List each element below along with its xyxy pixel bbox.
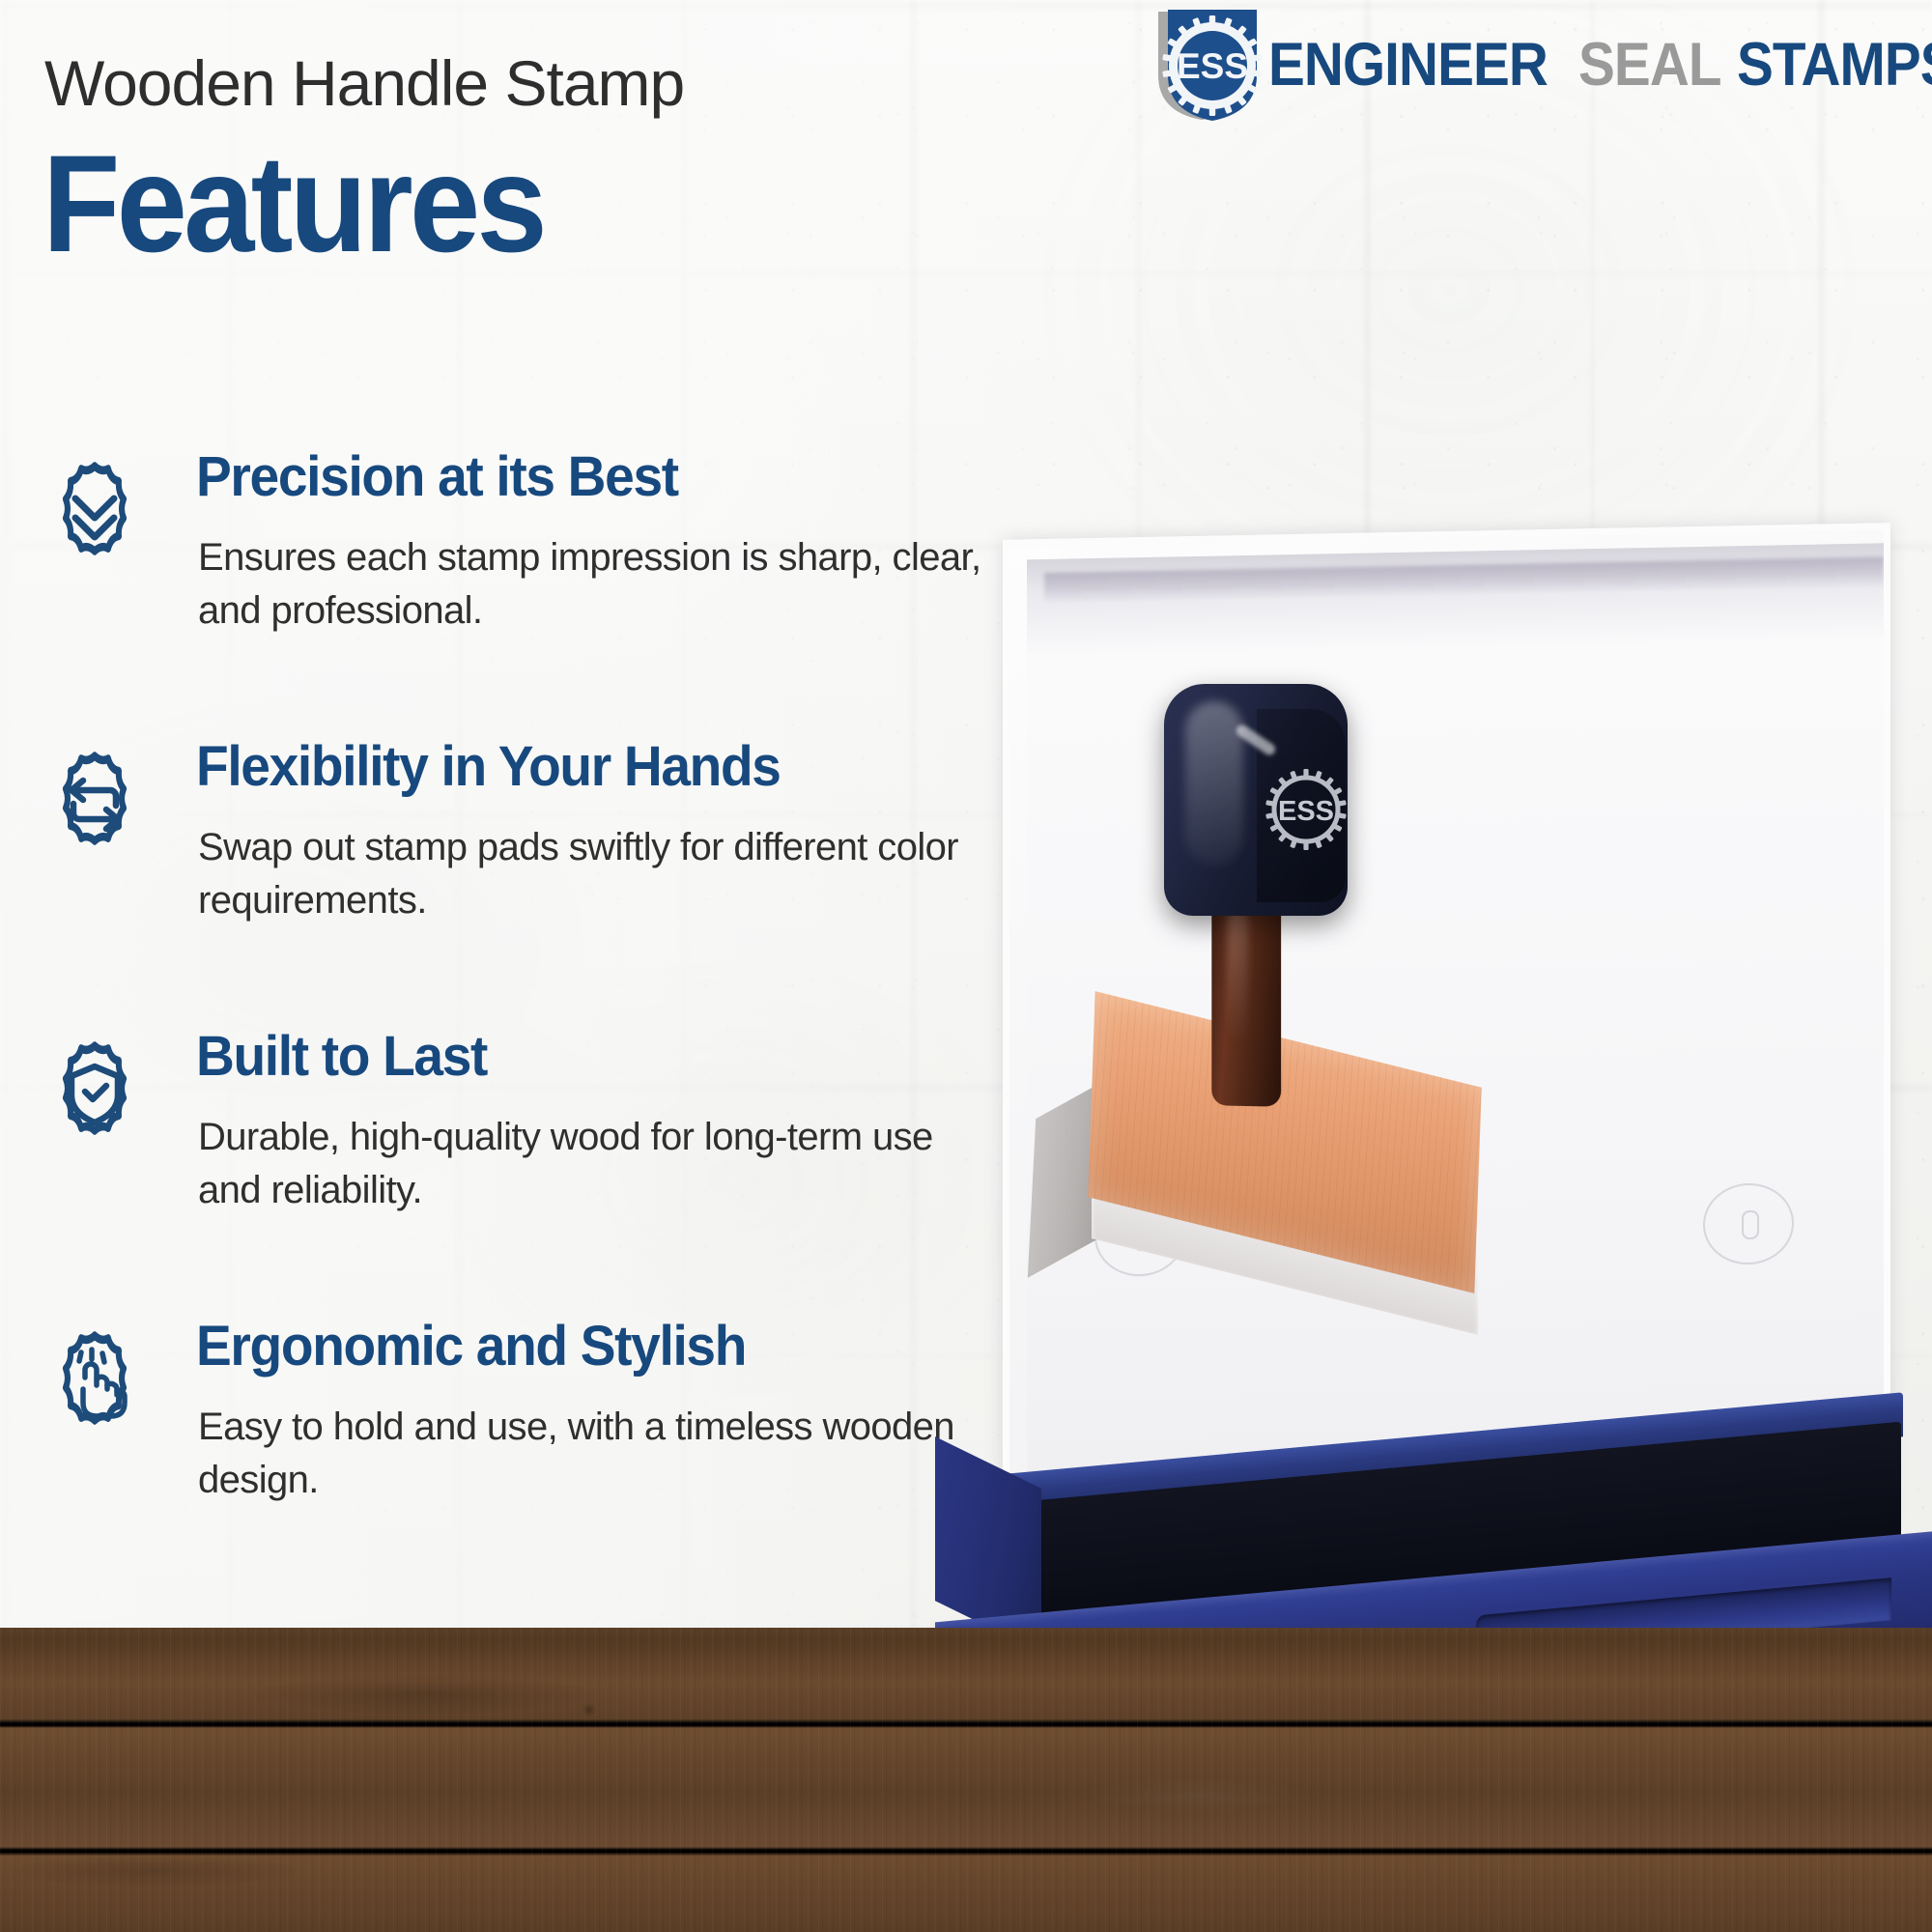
feature-body: Ensures each stamp impression is sharp, … <box>198 531 1000 638</box>
feature-body: Swap out stamp pads swiftly for differen… <box>198 821 1000 927</box>
feature-heading: Flexibility in Your Hands <box>196 738 781 797</box>
swap-arrows-badge-icon <box>39 742 151 862</box>
hand-tap-badge-icon <box>39 1321 151 1441</box>
wood-grain-patches <box>0 1628 1932 1932</box>
logo-mark-text: ESS <box>1177 46 1248 86</box>
logo-wordmark: ENGINEER SEAL STAMPS .COM <box>1268 29 1932 100</box>
feature-item-precision: Precision at its Best Ensures each stamp… <box>39 452 1014 742</box>
wooden-table-surface <box>0 1628 1932 1932</box>
feature-item-durability: Built to Last Durable, high-quality wood… <box>39 1032 1014 1321</box>
stamp-neck <box>1211 883 1281 1106</box>
logo-word-stamps: STAMPS <box>1737 35 1932 96</box>
wooden-handle-stamp: ESS <box>976 502 1932 1710</box>
knob-logo-text: ESS <box>1278 796 1334 827</box>
feature-list: Precision at its Best Ensures each stamp… <box>39 452 1014 1321</box>
page-subtitle: Wooden Handle Stamp <box>44 46 684 120</box>
shield-check-badge-icon <box>39 1032 151 1151</box>
page-title: Features <box>43 135 544 273</box>
feature-infographic: Wooden Handle Stamp Features <box>0 0 1932 1932</box>
ess-gear-icon: ESS <box>1264 765 1348 854</box>
brand-logo[interactable]: ESS ENGINEER SEAL STAMPS .COM <box>1145 8 1918 124</box>
feature-item-flexibility: Flexibility in Your Hands Swap out stamp… <box>39 742 1014 1032</box>
product-photo: ESS <box>976 502 1932 1710</box>
feature-heading: Precision at its Best <box>196 448 678 507</box>
logo-word-seal: SEAL <box>1578 35 1721 96</box>
ess-gear-shield-icon: ESS <box>1145 8 1266 124</box>
feature-heading: Ergonomic and Stylish <box>196 1318 746 1377</box>
logo-word-engineer: ENGINEER <box>1268 35 1548 96</box>
double-chevron-down-badge-icon <box>39 452 151 572</box>
feature-heading: Built to Last <box>196 1028 487 1087</box>
feature-body: Durable, high-quality wood for long-term… <box>198 1111 1000 1217</box>
stamp-knob: ESS <box>1164 684 1348 916</box>
knob-gloss <box>1185 701 1243 866</box>
feature-body: Easy to hold and use, with a timeless wo… <box>198 1401 1000 1507</box>
